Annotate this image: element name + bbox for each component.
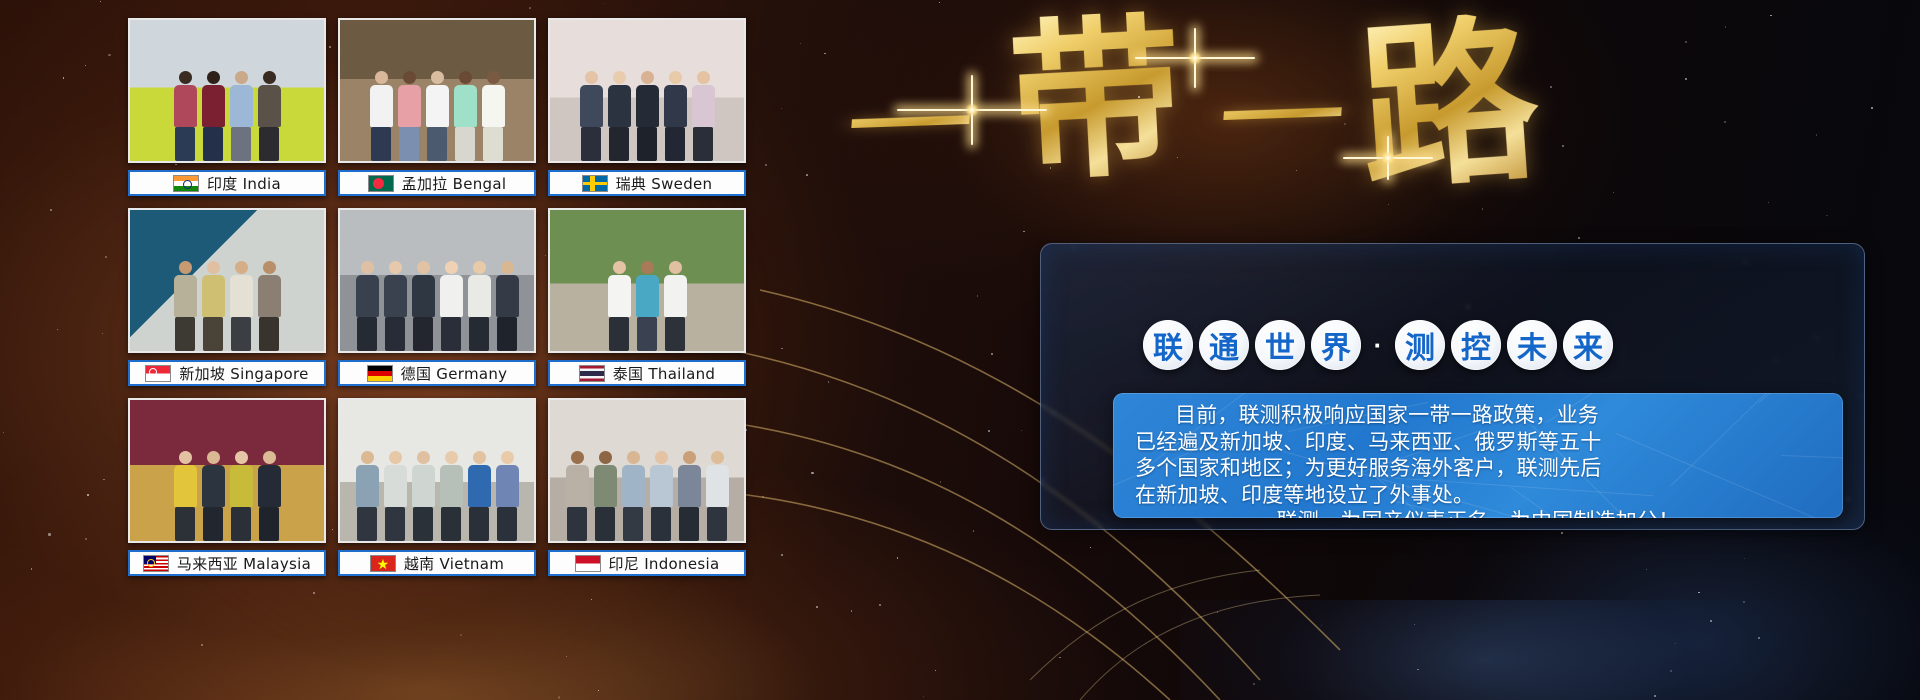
country-photo[interactable] — [338, 398, 536, 543]
star-decoration — [1562, 145, 1564, 147]
country-card[interactable]: 瑞典 Sweden — [548, 18, 746, 196]
person-figure — [424, 71, 450, 161]
country-card[interactable]: 孟加拉 Bengal — [338, 18, 536, 196]
person-figure — [172, 71, 198, 161]
person-figure — [368, 71, 394, 161]
person-figure — [354, 451, 380, 541]
country-photo-grid: 印度 India — [128, 18, 768, 576]
flag-malaysia-icon — [143, 555, 169, 572]
person-figure — [466, 451, 492, 541]
star-decoration — [1578, 237, 1580, 239]
slogan-separator: · — [1367, 330, 1389, 361]
country-caption[interactable]: 越南 Vietnam — [338, 550, 536, 576]
person-figure — [620, 451, 646, 541]
star-decoration — [988, 430, 990, 432]
headline-char-2: 带 — [1006, 10, 1187, 191]
person-figure — [354, 261, 380, 351]
person-figure — [228, 261, 254, 351]
person-figure — [690, 71, 716, 161]
person-figure — [452, 71, 478, 161]
person-figure — [256, 71, 282, 161]
star-decoration — [1021, 430, 1022, 431]
person-figure — [634, 71, 660, 161]
slogan-badge: 联 — [1143, 320, 1193, 370]
person-figure — [494, 451, 520, 541]
country-label: 泰国 Thailand — [613, 363, 716, 384]
promotional-banner: 印度 India — [0, 0, 1920, 700]
headline-belt-and-road: 一 带 一 路 — [840, 8, 1560, 198]
star-decoration — [31, 568, 33, 570]
person-figure — [410, 261, 436, 351]
country-label: 马来西亚 Malaysia — [177, 553, 311, 574]
flag-india-icon — [173, 175, 199, 192]
person-figure — [676, 451, 702, 541]
person-figure — [396, 71, 422, 161]
star-decoration — [897, 557, 899, 559]
country-card[interactable]: 越南 Vietnam — [338, 398, 536, 576]
star-decoration — [1685, 78, 1687, 80]
slogan-badge: 来 — [1563, 320, 1613, 370]
star-decoration — [1770, 15, 1772, 17]
country-label: 瑞典 Sweden — [616, 173, 713, 194]
country-label: 新加坡 Singapore — [179, 363, 308, 384]
country-caption[interactable]: 泰国 Thailand — [548, 360, 746, 386]
country-photo[interactable] — [128, 18, 326, 163]
country-caption[interactable]: 新加坡 Singapore — [128, 360, 326, 386]
description-line: 在新加坡、印度等地设立了外事处。 — [1135, 482, 1821, 509]
slogan-badge: 测 — [1395, 320, 1445, 370]
person-figure — [200, 71, 226, 161]
star-decoration — [1724, 121, 1726, 123]
country-label: 印尼 Indonesia — [609, 553, 720, 574]
person-figure — [172, 261, 198, 351]
star-decoration — [991, 353, 993, 355]
star-decoration — [1725, 26, 1727, 28]
country-photo[interactable] — [128, 398, 326, 543]
star-decoration — [977, 295, 979, 297]
description-line: 已经遍及新加坡、印度、马来西亚、俄罗斯等五十 — [1135, 429, 1821, 456]
person-figure — [200, 261, 226, 351]
person-figure — [592, 451, 618, 541]
country-photo[interactable] — [338, 18, 536, 163]
country-caption[interactable]: 马来西亚 Malaysia — [128, 550, 326, 576]
country-card[interactable]: 马来西亚 Malaysia — [128, 398, 326, 576]
star-decoration — [940, 481, 942, 483]
person-figure — [438, 261, 464, 351]
flag-thailand-icon — [579, 365, 605, 382]
star-decoration — [1871, 107, 1873, 109]
slogan-badges: 联通世界·测控未来 — [1143, 320, 1613, 370]
country-label: 德国 Germany — [401, 363, 508, 384]
headline-char-4: 路 — [1354, 10, 1544, 200]
slogan-badge: 控 — [1451, 320, 1501, 370]
flag-indonesia-icon — [575, 555, 601, 572]
person-figure — [382, 261, 408, 351]
country-label: 越南 Vietnam — [404, 553, 504, 574]
person-figure — [228, 71, 254, 161]
person-figure — [410, 451, 436, 541]
star-decoration — [1744, 558, 1745, 559]
slogan-badge: 未 — [1507, 320, 1557, 370]
country-card[interactable]: 泰国 Thailand — [548, 208, 746, 386]
description-panel: 目前，联测积极响应国家一带一路政策，业务 已经遍及新加坡、印度、马来西亚、俄罗斯… — [1113, 393, 1843, 518]
person-figure — [704, 451, 730, 541]
person-figure — [564, 451, 590, 541]
star-decoration — [1613, 192, 1614, 193]
star-decoration — [1482, 208, 1484, 210]
country-caption[interactable]: 德国 Germany — [338, 360, 536, 386]
star-decoration — [939, 2, 940, 3]
person-figure — [256, 261, 282, 351]
country-caption[interactable]: 孟加拉 Bengal — [338, 170, 536, 196]
star-decoration — [1090, 547, 1091, 548]
star-decoration — [3, 432, 4, 433]
person-figure — [480, 71, 506, 161]
country-photo[interactable] — [548, 18, 746, 163]
country-card[interactable]: 新加坡 Singapore — [128, 208, 326, 386]
flag-singapore-icon — [145, 365, 171, 382]
country-caption[interactable]: 印尼 Indonesia — [548, 550, 746, 576]
star-decoration — [1023, 231, 1025, 233]
globe-glow-decoration — [1180, 600, 1920, 700]
flag-sweden-icon — [582, 175, 608, 192]
star-decoration — [1561, 532, 1563, 534]
star-decoration — [1816, 134, 1818, 136]
person-figure — [648, 451, 674, 541]
country-photo[interactable] — [128, 208, 326, 353]
person-figure — [494, 261, 520, 351]
country-label: 印度 India — [207, 173, 281, 194]
headline-char-1: 一 — [845, 85, 975, 166]
star-decoration — [973, 530, 975, 532]
person-figure — [466, 261, 492, 351]
person-figure — [200, 451, 226, 541]
country-photo[interactable] — [548, 208, 746, 353]
person-figure — [256, 451, 282, 541]
person-figure — [606, 71, 632, 161]
country-caption[interactable]: 瑞典 Sweden — [548, 170, 746, 196]
headline-char-3: 一 — [1217, 77, 1347, 158]
flag-germany-icon — [367, 365, 393, 382]
person-figure — [228, 451, 254, 541]
slogan-badge: 通 — [1199, 320, 1249, 370]
person-figure — [634, 261, 660, 351]
country-label: 孟加拉 Bengal — [402, 173, 507, 194]
star-decoration — [1646, 569, 1647, 570]
star-decoration — [935, 670, 936, 671]
person-figure — [578, 71, 604, 161]
star-decoration — [923, 696, 925, 698]
flag-vietnam-icon — [370, 555, 396, 572]
flag-bangladesh-icon — [368, 175, 394, 192]
country-photo[interactable] — [548, 398, 746, 543]
star-decoration — [1768, 202, 1769, 203]
description-line: 多个国家和地区；为更好服务海外客户，联测先后 — [1135, 455, 1821, 482]
star-decoration — [1826, 215, 1828, 217]
description-line: 联测，为国产仪表正名，为中国制造加分！ — [1135, 508, 1821, 518]
person-figure — [662, 261, 688, 351]
star-decoration — [1685, 41, 1687, 43]
person-figure — [172, 451, 198, 541]
person-figure — [382, 451, 408, 541]
person-figure — [662, 71, 688, 161]
slogan-badge: 世 — [1255, 320, 1305, 370]
country-caption[interactable]: 印度 India — [128, 170, 326, 196]
star-decoration — [1059, 657, 1061, 659]
country-card[interactable]: 印度 India — [128, 18, 326, 196]
slogan-badge: 界 — [1311, 320, 1361, 370]
country-photo[interactable] — [338, 208, 536, 353]
country-card[interactable]: 印尼 Indonesia — [548, 398, 746, 576]
star-decoration — [1698, 592, 1700, 594]
description-line: 目前，联测积极响应国家一带一路政策，业务 — [1135, 402, 1821, 429]
country-card[interactable]: 德国 Germany — [338, 208, 536, 386]
person-figure — [606, 261, 632, 351]
person-figure — [438, 451, 464, 541]
